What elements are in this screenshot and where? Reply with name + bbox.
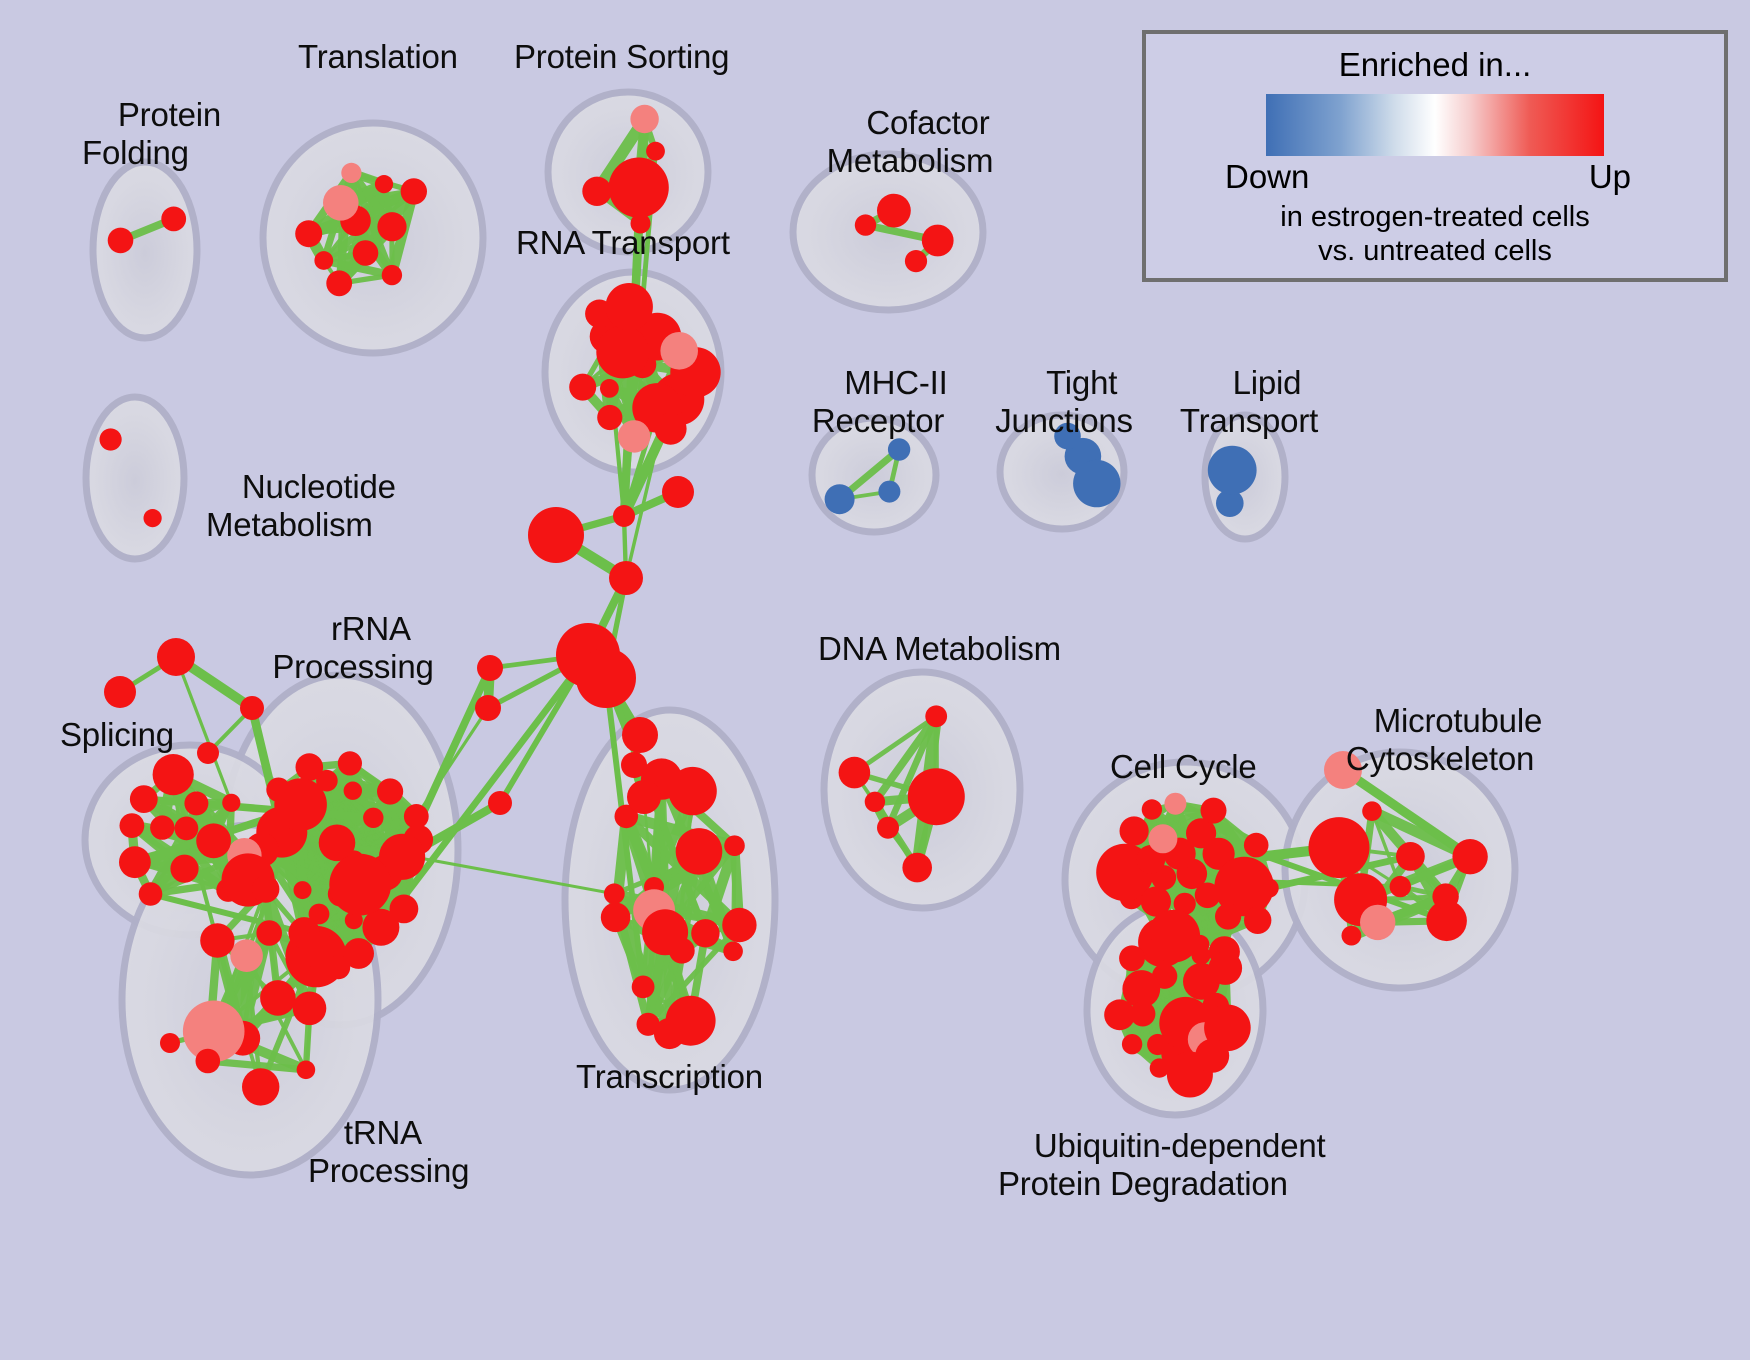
- legend-caption-line2: vs. untreated cells: [1318, 235, 1552, 267]
- graph-node: [475, 695, 501, 721]
- graph-node: [230, 939, 263, 972]
- graph-node: [1201, 798, 1227, 824]
- cluster-label-cofactor-metabolism: CofactorMetabolism: [810, 66, 1010, 218]
- graph-node: [1432, 883, 1458, 909]
- legend-color-gradient-bar: [1266, 94, 1604, 156]
- graph-node: [582, 177, 611, 206]
- graph-node: [197, 742, 219, 764]
- legend-box: Enriched in... Down Up in estrogen-treat…: [1142, 30, 1728, 282]
- graph-node: [222, 794, 240, 812]
- graph-node: [902, 853, 932, 883]
- graph-node: [377, 212, 406, 241]
- graph-node: [925, 705, 947, 727]
- graph-node: [1148, 824, 1177, 853]
- graph-node: [157, 638, 195, 676]
- legend-endpoints: Down Up: [1225, 158, 1645, 198]
- graph-node: [256, 920, 282, 946]
- graph-node: [293, 992, 327, 1026]
- graph-node: [375, 175, 393, 193]
- graph-node: [922, 225, 954, 257]
- graph-node: [606, 283, 653, 330]
- graph-node: [240, 696, 264, 720]
- graph-node: [600, 379, 619, 398]
- graph-node: [1164, 793, 1186, 815]
- graph-node: [1195, 1039, 1229, 1073]
- legend-caption-line1: in estrogen-treated cells: [1280, 201, 1590, 233]
- graph-node: [160, 1033, 180, 1053]
- graph-node: [1390, 876, 1411, 897]
- graph-node: [576, 648, 636, 708]
- graph-node: [266, 778, 290, 802]
- graph-node: [666, 996, 716, 1046]
- graph-node: [865, 792, 885, 812]
- graph-node: [341, 163, 361, 183]
- cluster-label-splicing: Splicing: [60, 716, 174, 754]
- network-diagram-canvas: ProteinFolding Translation Protein Sorti…: [0, 0, 1750, 1360]
- legend-title: Enriched in...: [1146, 46, 1724, 84]
- graph-node: [668, 767, 716, 815]
- graph-node: [153, 754, 194, 795]
- graph-node: [1360, 905, 1395, 940]
- graph-node: [646, 142, 665, 161]
- graph-node: [825, 484, 855, 514]
- graph-node: [377, 778, 403, 804]
- graph-node: [637, 1013, 660, 1036]
- graph-node: [1142, 799, 1162, 819]
- graph-node: [323, 185, 359, 221]
- legend-up-label: Up: [1589, 158, 1631, 196]
- cluster-label-tight-junctions: TightJunctions: [990, 326, 1138, 478]
- graph-node: [1119, 945, 1145, 971]
- graph-node: [1244, 833, 1269, 858]
- graph-node: [104, 676, 136, 708]
- cluster-label-rna-transport: RNA Transport: [516, 224, 730, 262]
- graph-node: [691, 919, 719, 947]
- graph-node: [877, 817, 899, 839]
- cluster-label-protein-folding: ProteinFolding: [82, 58, 221, 210]
- cluster-label-ubiquitin-degradation: Ubiquitin-dependentProtein Degradation: [998, 1089, 1325, 1241]
- cluster-label-transcription: Transcription: [576, 1058, 763, 1096]
- graph-node: [609, 158, 669, 218]
- cluster-label-cell-cycle: Cell Cycle: [1110, 748, 1257, 786]
- graph-node: [622, 717, 658, 753]
- graph-node: [722, 908, 756, 942]
- cluster-label-trna-processing: tRNAProcessing: [308, 1076, 469, 1228]
- graph-node: [618, 420, 650, 452]
- graph-node: [569, 374, 596, 401]
- graph-node: [382, 265, 402, 285]
- graph-node: [326, 270, 352, 296]
- graph-node: [669, 938, 695, 964]
- graph-node: [200, 923, 234, 957]
- graph-node: [723, 942, 743, 962]
- cluster-label-protein-sorting: Protein Sorting: [514, 38, 729, 76]
- graph-node: [596, 326, 649, 379]
- graph-node: [139, 882, 163, 906]
- graph-node: [1195, 883, 1221, 909]
- graph-node: [1150, 1058, 1169, 1077]
- graph-node: [314, 251, 333, 270]
- graph-node: [662, 476, 694, 508]
- graph-node: [294, 881, 312, 899]
- legend-down-label: Down: [1225, 158, 1309, 196]
- graph-node: [1145, 939, 1168, 962]
- graph-node: [601, 903, 631, 933]
- graph-node: [344, 782, 362, 800]
- graph-node: [353, 240, 379, 266]
- graph-node: [477, 655, 503, 681]
- graph-node: [184, 791, 208, 815]
- graph-node: [175, 817, 199, 841]
- graph-node: [100, 428, 122, 450]
- graph-node: [260, 980, 296, 1016]
- graph-node: [161, 207, 186, 232]
- graph-node: [338, 751, 362, 775]
- graph-node: [627, 780, 661, 814]
- graph-node: [144, 509, 162, 527]
- graph-node: [196, 823, 231, 858]
- graph-node: [632, 976, 655, 999]
- graph-node: [839, 757, 871, 789]
- graph-node: [878, 481, 900, 503]
- cluster-label-dna-metabolism: DNA Metabolism: [818, 630, 1061, 668]
- cluster-label-nucleotide-metabolism: NucleotideMetabolism: [206, 430, 396, 582]
- graph-node: [1104, 999, 1135, 1030]
- graph-node: [660, 332, 698, 370]
- graph-node: [170, 855, 198, 883]
- graph-node: [130, 785, 158, 813]
- cluster-label-lipid-transport: LipidTransport: [1175, 326, 1323, 478]
- graph-node: [630, 105, 658, 133]
- graph-node: [329, 854, 391, 916]
- cluster-label-translation: Translation: [298, 38, 458, 76]
- graph-node: [724, 835, 745, 856]
- graph-node: [613, 505, 635, 527]
- graph-node: [1122, 1034, 1142, 1054]
- graph-node: [621, 752, 647, 778]
- graph-node: [1209, 951, 1243, 985]
- graph-node: [242, 1068, 279, 1105]
- graph-node: [1147, 1034, 1168, 1055]
- graph-node: [1309, 817, 1370, 878]
- graph-node: [363, 808, 383, 828]
- graph-node: [609, 561, 643, 595]
- cluster-label-microtubule-cytoskeleton: MicrotubuleCytoskeleton: [1316, 664, 1564, 816]
- graph-node: [298, 931, 334, 967]
- graph-node: [119, 846, 151, 878]
- graph-node: [196, 1049, 221, 1074]
- graph-node: [676, 828, 723, 875]
- graph-node: [604, 883, 625, 904]
- cluster-label-mhc-ii-receptor: MHC-IIReceptor: [808, 326, 948, 478]
- cluster-hull-nucleotide-metabolism: [86, 397, 184, 559]
- graph-node: [295, 220, 322, 247]
- graph-node: [908, 768, 965, 825]
- graph-node: [119, 813, 144, 838]
- graph-node: [905, 250, 927, 272]
- legend-caption: in estrogen-treated cells vs. untreated …: [1146, 200, 1724, 268]
- graph-node: [1342, 926, 1362, 946]
- graph-node: [108, 228, 134, 254]
- graph-node: [401, 178, 427, 204]
- graph-node: [528, 507, 584, 563]
- graph-node: [488, 791, 512, 815]
- graph-node: [316, 770, 338, 792]
- graph-node: [390, 895, 419, 924]
- graph-node: [309, 904, 330, 925]
- graph-node: [1120, 816, 1149, 845]
- graph-node: [1396, 842, 1425, 871]
- graph-node: [1192, 946, 1211, 965]
- graph-node: [150, 815, 174, 839]
- graph-node: [252, 875, 279, 902]
- graph-node: [1215, 903, 1241, 929]
- graph-node: [655, 413, 687, 445]
- cluster-label-rrna-processing: rRNAProcessing: [266, 572, 440, 724]
- graph-node: [1452, 839, 1487, 874]
- graph-node: [1244, 907, 1271, 934]
- graph-node: [597, 405, 622, 430]
